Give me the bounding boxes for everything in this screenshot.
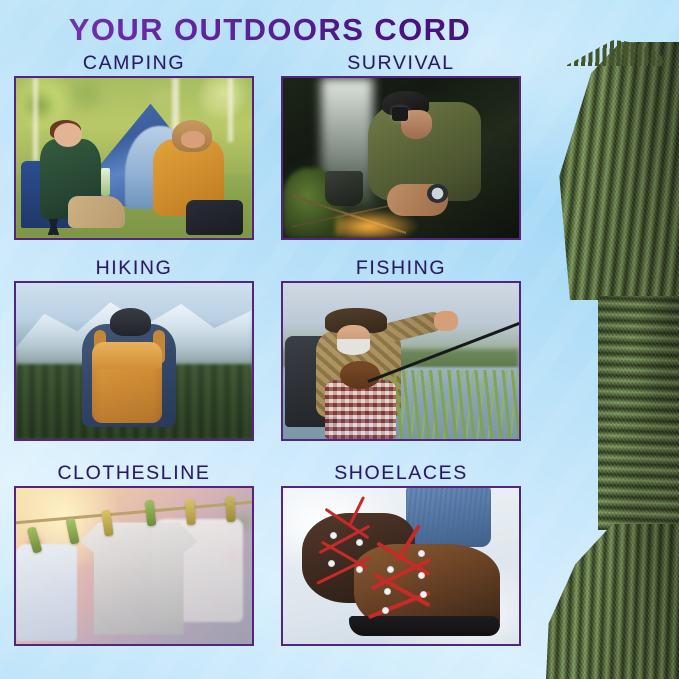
use-case-label-hiking: HIKING (14, 257, 254, 281)
use-case-photo-fishing (281, 281, 521, 441)
use-case-label-survival: SURVIVAL (281, 52, 521, 76)
use-case-photo-shoelaces (281, 486, 521, 646)
use-case-photo-camping (14, 76, 254, 240)
product-infographic: YOUR OUTDOORS CORD CAMPING (0, 0, 679, 679)
use-case-label-clothesline: CLOTHESLINE (14, 462, 254, 486)
use-case-photo-clothesline (14, 486, 254, 646)
paracord-strands-lower (546, 524, 679, 679)
use-case-grid: CAMPING (0, 52, 540, 662)
use-case-label-shoelaces: SHOELACES (281, 462, 521, 486)
use-case-camping[interactable]: CAMPING (14, 52, 254, 240)
paracord-coil (540, 0, 679, 679)
clothespin-icon (225, 496, 235, 522)
use-case-label-fishing: FISHING (281, 257, 521, 281)
use-case-photo-hiking (14, 281, 254, 441)
use-case-hiking[interactable]: HIKING (14, 257, 254, 441)
use-case-photo-survival (281, 76, 521, 240)
page-title: YOUR OUTDOORS CORD (0, 13, 540, 47)
use-case-fishing[interactable]: FISHING (281, 257, 521, 441)
use-case-clothesline[interactable]: CLOTHESLINE (14, 462, 254, 646)
paracord-strands-upper (546, 42, 679, 300)
use-case-shoelaces[interactable]: SHOELACES (281, 462, 521, 646)
use-case-survival[interactable]: SURVIVAL (281, 52, 521, 240)
clothespin-icon (185, 499, 196, 526)
use-case-label-camping: CAMPING (14, 52, 254, 76)
paracord-wound-bundle (598, 296, 679, 530)
